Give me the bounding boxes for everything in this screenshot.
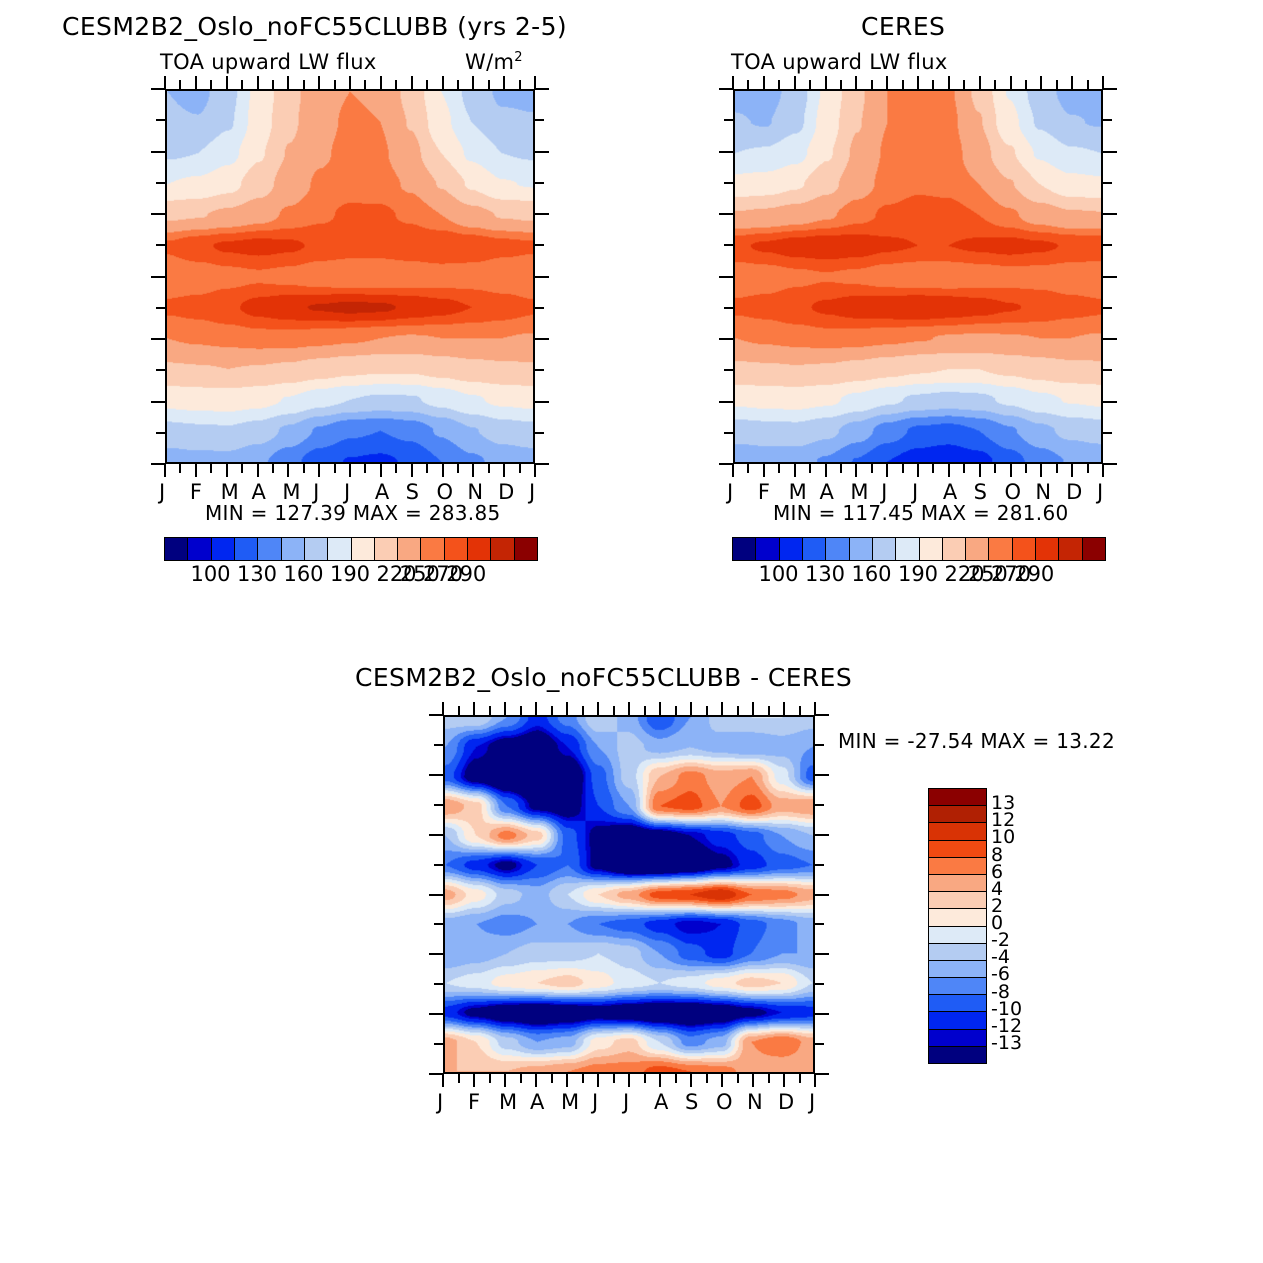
y-tick bbox=[156, 432, 165, 434]
colorbar-tick-label: 160 bbox=[851, 562, 893, 586]
x-tick-top bbox=[886, 76, 888, 89]
colorbar-swatch bbox=[352, 538, 375, 560]
y-tick-right bbox=[815, 1013, 829, 1015]
y-tick-right bbox=[1103, 182, 1112, 184]
x-tick bbox=[1040, 464, 1042, 477]
y-tick-right bbox=[535, 182, 544, 184]
x-tick-top-minor bbox=[582, 706, 584, 715]
model-panel-subtitle: TOA upward LW flux bbox=[160, 50, 377, 74]
y-tick bbox=[719, 276, 733, 278]
y-tick-right bbox=[535, 463, 549, 465]
y-tick-right bbox=[535, 119, 544, 121]
x-axis-label: J bbox=[437, 1090, 443, 1114]
x-tick-top-minor bbox=[871, 80, 873, 89]
colorbar-swatch bbox=[873, 538, 896, 560]
colorbar-swatch bbox=[756, 538, 779, 560]
colorbar-swatch bbox=[929, 909, 986, 926]
diff-plot-frame bbox=[443, 715, 815, 1074]
x-tick-minor bbox=[778, 464, 780, 473]
colorbar-swatch bbox=[515, 538, 537, 560]
x-tick-top bbox=[504, 702, 506, 715]
colorbar-tick-label: 160 bbox=[283, 562, 325, 586]
y-tick bbox=[429, 714, 443, 716]
x-tick-top bbox=[442, 76, 444, 89]
y-tick-right bbox=[535, 276, 549, 278]
units-exponent: 2 bbox=[514, 50, 523, 65]
colorbar-swatch bbox=[212, 538, 235, 560]
y-tick-right bbox=[815, 804, 824, 806]
colorbar-swatch bbox=[850, 538, 873, 560]
colorbar-swatch bbox=[1013, 538, 1036, 560]
colorbar-swatch bbox=[258, 538, 281, 560]
x-tick-top-minor bbox=[747, 80, 749, 89]
y-tick bbox=[719, 463, 733, 465]
obs-panel-subtitle: TOA upward LW flux bbox=[731, 50, 948, 74]
y-tick-right bbox=[535, 401, 549, 403]
y-tick-right bbox=[815, 1073, 829, 1075]
y-tick-right bbox=[535, 369, 544, 371]
x-tick bbox=[783, 1074, 785, 1087]
x-tick-top bbox=[1010, 76, 1012, 89]
x-axis-label: F bbox=[190, 480, 202, 504]
y-tick-right bbox=[1103, 213, 1117, 215]
colorbar-tick-label: 290 bbox=[445, 562, 487, 586]
diff-minmax-text: MIN = -27.54 MAX = 13.22 bbox=[838, 729, 1115, 753]
x-tick-minor bbox=[364, 464, 366, 473]
x-tick-minor bbox=[272, 464, 274, 473]
colorbar-swatch bbox=[966, 538, 989, 560]
y-tick-right bbox=[815, 1043, 824, 1045]
colorbar-tick-label: 100 bbox=[758, 562, 800, 586]
y-tick-right bbox=[1103, 463, 1117, 465]
obs-minmax-text: MIN = 117.45 MAX = 281.60 bbox=[773, 501, 1069, 525]
x-tick bbox=[917, 464, 919, 477]
colorbar-swatch bbox=[929, 806, 986, 823]
y-tick bbox=[719, 213, 733, 215]
x-tick-top bbox=[690, 702, 692, 715]
colorbar-swatch bbox=[235, 538, 258, 560]
y-tick-right bbox=[535, 88, 549, 90]
x-tick-minor bbox=[395, 464, 397, 473]
x-tick-minor bbox=[644, 1074, 646, 1083]
y-tick-right bbox=[1103, 401, 1117, 403]
y-tick bbox=[724, 119, 733, 121]
x-tick bbox=[1010, 464, 1012, 477]
x-tick-top bbox=[794, 76, 796, 89]
x-tick bbox=[825, 464, 827, 477]
x-axis-label: J bbox=[529, 480, 535, 504]
x-axis-label: M bbox=[499, 1090, 517, 1114]
x-tick bbox=[534, 464, 536, 477]
colorbar-swatch bbox=[305, 538, 328, 560]
x-tick-minor bbox=[582, 1074, 584, 1083]
x-tick bbox=[948, 464, 950, 477]
x-tick-top bbox=[287, 76, 289, 89]
y-tick-right bbox=[1103, 369, 1112, 371]
x-tick-top-minor bbox=[1087, 80, 1089, 89]
colorbar-swatch bbox=[398, 538, 421, 560]
x-tick bbox=[195, 464, 197, 477]
x-tick bbox=[979, 464, 981, 477]
x-tick bbox=[257, 464, 259, 477]
y-tick-right bbox=[1103, 88, 1117, 90]
x-axis-label: M bbox=[561, 1090, 579, 1114]
x-axis-label: J bbox=[1097, 480, 1103, 504]
x-tick-minor bbox=[675, 1074, 677, 1083]
y-tick bbox=[429, 894, 443, 896]
model-heatmap bbox=[167, 91, 533, 462]
y-tick-right bbox=[815, 894, 829, 896]
x-tick-top-minor bbox=[768, 706, 770, 715]
y-tick bbox=[156, 307, 165, 309]
x-axis-label: J bbox=[809, 1090, 815, 1114]
units-base: W/m bbox=[465, 50, 514, 74]
x-tick-minor bbox=[458, 1074, 460, 1083]
colorbar-swatch bbox=[929, 823, 986, 840]
colorbar-swatch bbox=[929, 978, 986, 995]
x-tick-minor bbox=[457, 464, 459, 473]
x-tick-minor bbox=[840, 464, 842, 473]
x-tick-top bbox=[473, 702, 475, 715]
x-tick-top bbox=[917, 76, 919, 89]
x-tick-top bbox=[659, 702, 661, 715]
y-tick bbox=[151, 88, 165, 90]
y-tick bbox=[156, 369, 165, 371]
x-tick bbox=[814, 1074, 816, 1087]
colorbar-swatch bbox=[929, 1047, 986, 1063]
y-tick-right bbox=[1103, 151, 1117, 153]
y-tick bbox=[151, 151, 165, 153]
x-tick-minor bbox=[303, 464, 305, 473]
x-tick bbox=[287, 464, 289, 477]
x-tick-minor bbox=[241, 464, 243, 473]
colorbar-swatch bbox=[1083, 538, 1105, 560]
y-tick bbox=[151, 276, 165, 278]
x-tick-top bbox=[566, 702, 568, 715]
x-tick-top-minor bbox=[334, 80, 336, 89]
x-tick bbox=[597, 1074, 599, 1087]
colorbar-swatch bbox=[328, 538, 351, 560]
x-tick bbox=[226, 464, 228, 477]
y-tick bbox=[151, 338, 165, 340]
colorbar-swatch bbox=[1059, 538, 1082, 560]
model-plot-frame bbox=[165, 89, 535, 464]
y-tick-right bbox=[1103, 432, 1112, 434]
x-tick bbox=[318, 464, 320, 477]
x-tick bbox=[659, 1074, 661, 1087]
y-tick bbox=[724, 307, 733, 309]
y-tick-right bbox=[535, 151, 549, 153]
x-tick-top-minor bbox=[840, 80, 842, 89]
x-tick bbox=[503, 464, 505, 477]
y-tick bbox=[429, 834, 443, 836]
x-axis-label: J bbox=[727, 480, 733, 504]
x-tick-top bbox=[597, 702, 599, 715]
x-axis-label: J bbox=[592, 1090, 598, 1114]
x-tick bbox=[732, 464, 734, 477]
x-tick-top bbox=[1071, 76, 1073, 89]
colorbar-swatch bbox=[929, 944, 986, 961]
colorbar-swatch bbox=[929, 1030, 986, 1047]
y-tick bbox=[724, 182, 733, 184]
x-axis-label: D bbox=[778, 1090, 794, 1114]
y-tick bbox=[156, 182, 165, 184]
x-tick-minor bbox=[768, 1074, 770, 1083]
x-tick-top-minor bbox=[272, 80, 274, 89]
x-tick bbox=[504, 1074, 506, 1087]
diff-panel-title: CESM2B2_Oslo_noFC55CLUBB - CERES bbox=[355, 663, 852, 692]
x-axis-label: J bbox=[623, 1090, 629, 1114]
x-tick bbox=[763, 464, 765, 477]
y-tick-right bbox=[815, 774, 829, 776]
colorbar-swatch bbox=[929, 789, 986, 806]
y-tick-right bbox=[815, 864, 824, 866]
y-tick bbox=[724, 369, 733, 371]
x-tick-minor bbox=[488, 464, 490, 473]
y-tick-right bbox=[1103, 307, 1112, 309]
x-tick-minor bbox=[551, 1074, 553, 1083]
x-tick-minor bbox=[1056, 464, 1058, 473]
x-tick bbox=[566, 1074, 568, 1087]
x-axis-label: A bbox=[530, 1090, 544, 1114]
x-tick-top bbox=[226, 76, 228, 89]
x-tick-minor bbox=[706, 1074, 708, 1083]
y-tick-right bbox=[1103, 338, 1117, 340]
x-tick-top bbox=[195, 76, 197, 89]
y-tick-right bbox=[535, 244, 544, 246]
colorbar-swatch bbox=[165, 538, 188, 560]
x-tick-top-minor bbox=[458, 706, 460, 715]
x-axis-label: D bbox=[1066, 480, 1082, 504]
colorbar-swatch bbox=[733, 538, 756, 560]
x-tick bbox=[1071, 464, 1073, 477]
colorbar-swatch bbox=[929, 927, 986, 944]
obs-panel-title: CERES bbox=[861, 12, 945, 41]
model-colorbar bbox=[164, 537, 538, 561]
y-tick-right bbox=[815, 834, 829, 836]
colorbar-swatch bbox=[188, 538, 211, 560]
colorbar-swatch bbox=[445, 538, 468, 560]
x-tick-top-minor bbox=[799, 706, 801, 715]
x-tick-minor bbox=[747, 464, 749, 473]
y-tick bbox=[429, 1013, 443, 1015]
x-tick-top-minor bbox=[241, 80, 243, 89]
x-tick bbox=[349, 464, 351, 477]
x-tick-top-minor bbox=[994, 80, 996, 89]
colorbar-tick-label: -13 bbox=[991, 1034, 1022, 1053]
x-tick-minor bbox=[520, 1074, 522, 1083]
x-tick-top-minor bbox=[1025, 80, 1027, 89]
x-tick-top-minor bbox=[963, 80, 965, 89]
x-tick bbox=[886, 464, 888, 477]
x-tick-minor bbox=[902, 464, 904, 473]
diff-heatmap bbox=[445, 717, 813, 1072]
colorbar-swatch bbox=[826, 538, 849, 560]
x-tick-top bbox=[380, 76, 382, 89]
y-tick-right bbox=[815, 983, 824, 985]
colorbar-swatch bbox=[929, 875, 986, 892]
x-axis-label: O bbox=[716, 1090, 733, 1114]
y-tick bbox=[719, 401, 733, 403]
x-tick-top bbox=[349, 76, 351, 89]
x-tick-top-minor bbox=[395, 80, 397, 89]
x-tick-top-minor bbox=[644, 706, 646, 715]
x-tick-top-minor bbox=[551, 706, 553, 715]
x-tick-top-minor bbox=[519, 80, 521, 89]
x-tick bbox=[628, 1074, 630, 1087]
x-tick bbox=[472, 464, 474, 477]
x-tick-top bbox=[855, 76, 857, 89]
y-tick-right bbox=[1103, 244, 1112, 246]
x-tick-top-minor bbox=[457, 80, 459, 89]
x-tick-minor bbox=[871, 464, 873, 473]
y-tick bbox=[156, 119, 165, 121]
colorbar-tick-label: 190 bbox=[897, 562, 939, 586]
x-tick-top-minor bbox=[706, 706, 708, 715]
colorbar-swatch bbox=[896, 538, 919, 560]
x-tick bbox=[535, 1074, 537, 1087]
colorbar-swatch bbox=[282, 538, 305, 560]
colorbar-swatch bbox=[468, 538, 491, 560]
x-tick-top bbox=[535, 702, 537, 715]
y-tick-right bbox=[815, 714, 829, 716]
x-axis-label: N bbox=[747, 1090, 763, 1114]
x-tick-minor bbox=[179, 464, 181, 473]
x-tick-top bbox=[721, 702, 723, 715]
x-tick-top-minor bbox=[488, 80, 490, 89]
y-tick bbox=[434, 864, 443, 866]
x-tick-minor bbox=[994, 464, 996, 473]
y-tick-right bbox=[535, 432, 544, 434]
y-tick bbox=[434, 1043, 443, 1045]
x-tick-top bbox=[472, 76, 474, 89]
colorbar-swatch bbox=[421, 538, 444, 560]
y-tick-right bbox=[1103, 276, 1117, 278]
colorbar-swatch bbox=[929, 892, 986, 909]
x-tick bbox=[164, 464, 166, 477]
y-tick bbox=[429, 1073, 443, 1075]
x-tick-minor bbox=[1087, 464, 1089, 473]
x-tick-top-minor bbox=[675, 706, 677, 715]
x-tick-top-minor bbox=[737, 706, 739, 715]
x-tick bbox=[380, 464, 382, 477]
y-tick bbox=[429, 953, 443, 955]
colorbar-swatch bbox=[929, 1012, 986, 1029]
x-tick-top bbox=[503, 76, 505, 89]
y-tick-right bbox=[535, 307, 544, 309]
x-tick-minor bbox=[799, 1074, 801, 1083]
obs-colorbar bbox=[732, 537, 1106, 561]
y-tick bbox=[719, 338, 733, 340]
colorbar-swatch bbox=[780, 538, 803, 560]
x-tick-minor bbox=[210, 464, 212, 473]
colorbar-swatch bbox=[1036, 538, 1059, 560]
x-tick-top-minor bbox=[210, 80, 212, 89]
y-tick bbox=[434, 983, 443, 985]
x-tick bbox=[473, 1074, 475, 1087]
x-tick bbox=[442, 464, 444, 477]
y-tick-right bbox=[815, 953, 829, 955]
x-tick bbox=[442, 1074, 444, 1087]
colorbar-swatch bbox=[989, 538, 1012, 560]
x-tick-top bbox=[257, 76, 259, 89]
x-tick-top bbox=[948, 76, 950, 89]
x-tick-top bbox=[825, 76, 827, 89]
x-tick-minor bbox=[963, 464, 965, 473]
x-tick-top-minor bbox=[902, 80, 904, 89]
x-axis-label: A bbox=[654, 1090, 668, 1114]
x-tick-minor bbox=[613, 1074, 615, 1083]
x-tick-minor bbox=[426, 464, 428, 473]
x-axis-label: D bbox=[498, 480, 514, 504]
x-axis-label: J bbox=[159, 480, 165, 504]
model-minmax-text: MIN = 127.39 MAX = 283.85 bbox=[205, 501, 501, 525]
colorbar-tick-label: 290 bbox=[1013, 562, 1055, 586]
y-tick bbox=[719, 88, 733, 90]
model-panel-units: W/m2 bbox=[465, 50, 523, 74]
colorbar-swatch bbox=[929, 858, 986, 875]
y-tick bbox=[724, 432, 733, 434]
x-tick-top bbox=[979, 76, 981, 89]
colorbar-tick-label: 100 bbox=[190, 562, 232, 586]
x-tick bbox=[1102, 464, 1104, 477]
x-tick-top bbox=[628, 702, 630, 715]
colorbar-swatch bbox=[803, 538, 826, 560]
y-tick bbox=[434, 744, 443, 746]
x-tick-minor bbox=[932, 464, 934, 473]
x-tick bbox=[721, 1074, 723, 1087]
x-tick bbox=[794, 464, 796, 477]
x-tick bbox=[690, 1074, 692, 1087]
y-tick-right bbox=[1103, 119, 1112, 121]
x-tick-top bbox=[1040, 76, 1042, 89]
x-tick-minor bbox=[737, 1074, 739, 1083]
diff-colorbar bbox=[928, 788, 987, 1064]
x-tick-top-minor bbox=[303, 80, 305, 89]
y-tick-right bbox=[535, 213, 549, 215]
y-tick bbox=[724, 244, 733, 246]
y-tick bbox=[151, 213, 165, 215]
colorbar-tick-label: 130 bbox=[236, 562, 278, 586]
x-tick-minor bbox=[1025, 464, 1027, 473]
x-tick-top bbox=[752, 702, 754, 715]
colorbar-tick-label: 190 bbox=[329, 562, 371, 586]
x-tick-top bbox=[411, 76, 413, 89]
colorbar-swatch bbox=[491, 538, 514, 560]
y-tick bbox=[429, 774, 443, 776]
x-tick-minor bbox=[519, 464, 521, 473]
x-tick-top bbox=[763, 76, 765, 89]
colorbar-swatch bbox=[929, 995, 986, 1012]
y-tick bbox=[151, 463, 165, 465]
model-panel-title: CESM2B2_Oslo_noFC55CLUBB (yrs 2-5) bbox=[62, 12, 567, 41]
x-axis-label: F bbox=[468, 1090, 480, 1114]
colorbar-swatch bbox=[929, 841, 986, 858]
colorbar-swatch bbox=[375, 538, 398, 560]
x-tick-top-minor bbox=[932, 80, 934, 89]
x-tick-top-minor bbox=[809, 80, 811, 89]
y-tick-right bbox=[815, 923, 824, 925]
y-tick-right bbox=[815, 744, 824, 746]
y-tick bbox=[434, 923, 443, 925]
x-axis-label: S bbox=[685, 1090, 698, 1114]
x-tick-top-minor bbox=[426, 80, 428, 89]
x-tick bbox=[752, 1074, 754, 1087]
y-tick bbox=[156, 244, 165, 246]
x-tick-top-minor bbox=[778, 80, 780, 89]
colorbar-tick-label: 130 bbox=[804, 562, 846, 586]
x-tick-top bbox=[783, 702, 785, 715]
